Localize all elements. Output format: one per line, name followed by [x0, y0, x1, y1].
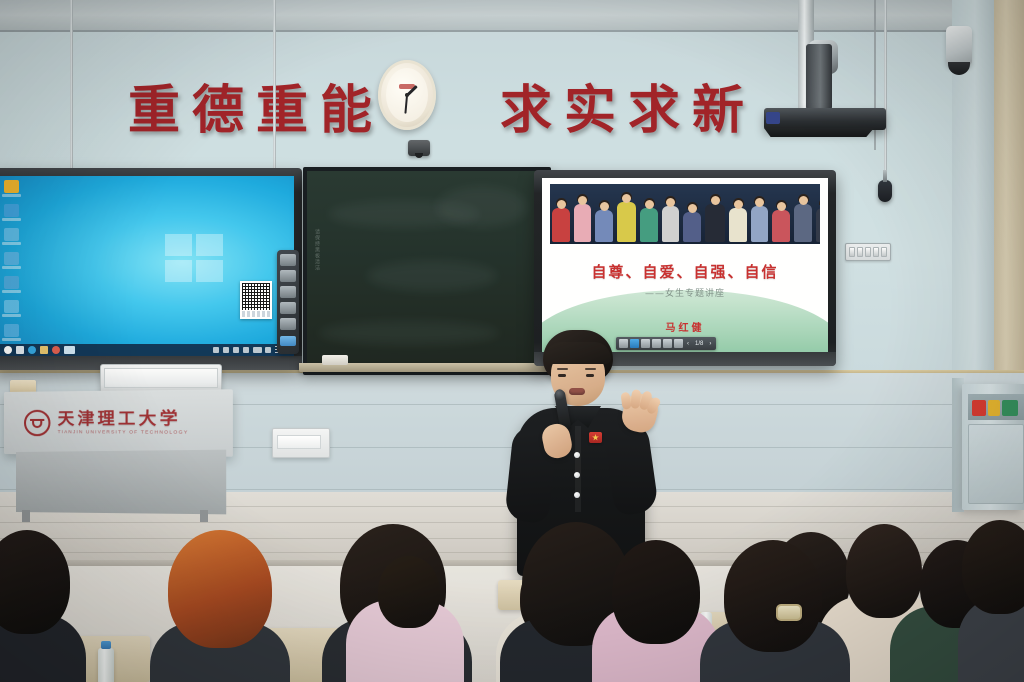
audience-head [168, 530, 272, 648]
presenter-mouth [569, 388, 585, 395]
shirt-button [574, 452, 580, 458]
refresh-icon[interactable] [280, 302, 296, 314]
wall-motto-right: 求实求新 [500, 68, 756, 143]
ceiling [0, 0, 1024, 34]
screen-cast-qr-code[interactable] [240, 281, 272, 319]
desktop-icon[interactable] [4, 300, 19, 313]
slide-subtitle: ——女生专题讲座 [542, 286, 828, 299]
audience-head [612, 540, 700, 644]
university-seal-icon [24, 410, 50, 436]
ceiling-camera-icon [408, 140, 430, 156]
audience-head [378, 556, 440, 628]
cabinet-item [972, 400, 986, 416]
projector-indicator [766, 112, 780, 124]
wall-access-panel[interactable] [272, 428, 330, 458]
chevron-up-icon[interactable] [213, 347, 219, 353]
start-icon[interactable] [4, 346, 12, 354]
desktop-icon-label [2, 218, 21, 221]
university-name-cn: 天津理工大学 [58, 410, 189, 427]
desktop-icon-label [2, 314, 21, 317]
lectern[interactable]: 天津理工大学 TIANJIN UNIVERSITY OF TECHNOLOGY [4, 392, 236, 520]
audience-head [846, 524, 922, 618]
hanging-rod [884, 0, 887, 180]
desktop-icon[interactable] [4, 204, 19, 217]
desktop-icon-label [2, 266, 21, 269]
lectern-base [16, 450, 226, 515]
exit-button[interactable] [280, 336, 296, 346]
desktop-icon[interactable] [4, 228, 19, 241]
volume-icon[interactable] [233, 347, 239, 353]
chalkboard-notice-left: 请保持黑板清洁 [312, 229, 320, 309]
active-window-icon[interactable] [64, 346, 75, 354]
bottle-cap [101, 641, 111, 649]
hanging-microphone [878, 180, 892, 202]
audience-head [724, 540, 822, 652]
lectern-front-panel: 天津理工大学 TIANJIN UNIVERSITY OF TECHNOLOGY [4, 389, 233, 456]
powerpoint-slide[interactable]: 自尊、自爱、自强、自信 ——女生专题讲座 马红健 [542, 178, 828, 352]
projector-body [764, 108, 886, 130]
clock-face [386, 68, 428, 122]
presenter-eye [558, 374, 566, 377]
lectern-leg [22, 510, 30, 522]
projector-arm [806, 44, 832, 110]
wall-motto-left: 重德重能 [128, 68, 384, 143]
qr-caption [242, 311, 270, 317]
next-slide-button[interactable]: › [707, 341, 713, 347]
edge-icon[interactable] [28, 346, 36, 354]
left-interactive-display[interactable] [0, 168, 302, 370]
desktop-icon-label [2, 338, 21, 341]
presenter-fringe [545, 342, 611, 364]
party-emblem-badge [589, 432, 602, 443]
wall-clock [378, 60, 436, 130]
university-name-en: TIANJIN UNIVERSITY OF TECHNOLOGY [58, 430, 189, 435]
classroom-photo: 重德重能 求实求新 [0, 0, 1024, 682]
screenshot-icon[interactable] [280, 286, 296, 298]
slide-page-indicator: 1/8 [693, 341, 705, 347]
keyboard-icon[interactable] [253, 347, 262, 353]
presenter-brow [557, 368, 568, 370]
desktop-icon-label [2, 194, 21, 197]
cabinet-door[interactable] [968, 424, 1024, 504]
file-explorer-icon[interactable] [40, 346, 48, 354]
desktop-icon[interactable] [4, 276, 19, 289]
presenter-placket [575, 426, 581, 512]
hanging-rod [273, 0, 276, 180]
display-side-toolbar[interactable] [277, 250, 299, 354]
slide-photo [550, 184, 820, 244]
task-view-icon[interactable] [16, 346, 24, 354]
wall-switch-panel[interactable] [845, 243, 891, 261]
cabinet-item [1002, 400, 1018, 416]
hair-clip [776, 604, 802, 621]
windows-taskbar[interactable] [0, 344, 294, 356]
media-icon[interactable] [52, 346, 60, 354]
windows-logo-watermark [165, 234, 223, 282]
qr-code-image [242, 283, 270, 310]
desktop-icon-label [2, 242, 21, 245]
water-bottle [98, 648, 114, 682]
desktop-icon[interactable] [4, 180, 19, 193]
storage-cabinet[interactable] [962, 384, 1024, 510]
university-plaque: 天津理工大学 TIANJIN UNIVERSITY OF TECHNOLOGY [24, 405, 210, 442]
screen-icon[interactable] [280, 254, 296, 266]
desktop-icon-label [2, 290, 21, 293]
left-display-screen[interactable] [0, 176, 294, 356]
hanging-rod [70, 0, 73, 182]
right-display-screen[interactable]: 自尊、自爱、自强、自信 ——女生专题讲座 马红健 ‹ 1/8 › [542, 178, 828, 352]
presenter-brow [585, 368, 596, 370]
pen-icon[interactable] [280, 270, 296, 282]
shirt-button [574, 472, 580, 478]
board-eraser[interactable] [322, 355, 348, 365]
prev-slide-button[interactable]: ‹ [685, 341, 691, 347]
presenter-eye [586, 374, 594, 377]
desktop-icon[interactable] [4, 252, 19, 265]
cabinet-item [988, 400, 1000, 416]
network-icon[interactable] [223, 347, 229, 353]
apps-icon[interactable] [280, 318, 296, 330]
clock-center-pin [405, 93, 409, 97]
ime-icon[interactable] [265, 347, 271, 353]
audience-head [962, 520, 1024, 614]
pen-icon[interactable] [243, 347, 249, 353]
clock-minute-hand [404, 95, 408, 113]
lectern-leg [200, 510, 208, 522]
shirt-button [574, 492, 580, 498]
desktop-icon[interactable] [4, 324, 19, 337]
dome-camera-mount [946, 26, 972, 66]
windows-desktop[interactable] [0, 176, 294, 356]
slide-title: 自尊、自爱、自强、自信 [542, 261, 828, 282]
